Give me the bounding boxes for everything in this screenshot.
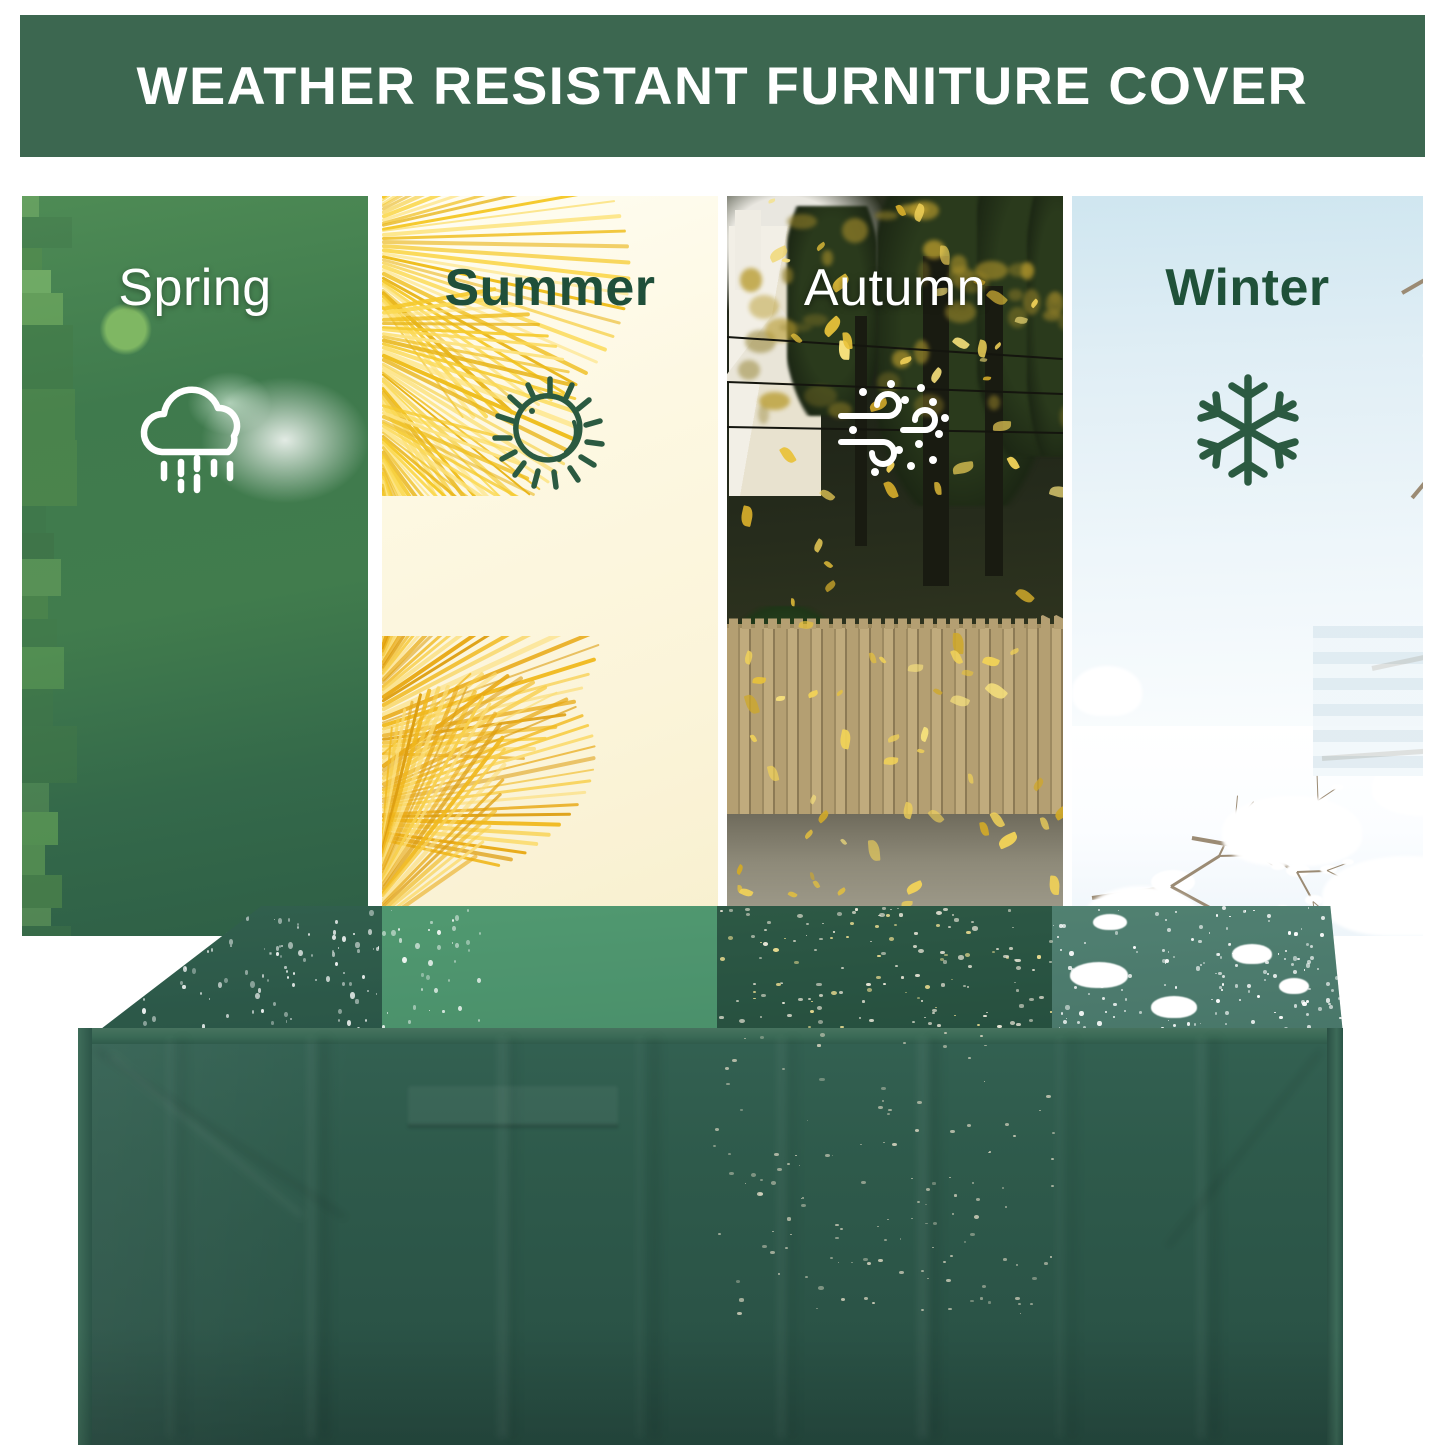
water-droplet [332,935,336,941]
debris-speck [835,1237,838,1239]
snow-speck [1264,979,1266,981]
leaf [883,756,898,765]
leaf [911,203,927,222]
palm-frond-bottom [382,636,718,936]
snow-speck [1168,1020,1169,1021]
snow-speck [1318,1007,1322,1011]
leaf [980,357,988,363]
snow-mound [1222,796,1362,866]
debris-speck [810,1010,815,1013]
snow-speck [1060,949,1062,951]
leaf [932,687,942,697]
water-droplet [298,950,303,956]
debris-speck [729,1172,733,1175]
debris-speck [954,1194,957,1196]
snow-speck [1274,1012,1275,1013]
water-droplet [149,969,153,974]
water-droplet [255,993,259,999]
debris-speck [740,1109,742,1110]
debris-speck [751,1173,756,1177]
leaf [812,880,820,889]
water-droplet [338,1009,342,1014]
water-droplet [94,975,96,978]
water-droplet [250,981,255,987]
leaf [1039,816,1049,830]
water-droplet [226,1014,229,1018]
snow-speck [1339,969,1341,971]
snow-speck [1097,1021,1101,1025]
water-droplet [468,949,470,952]
snow-speck [1211,999,1213,1001]
water-droplet [455,943,459,948]
debris-speck [728,1153,731,1155]
debris-speck [782,1002,785,1004]
debris-speck [876,976,880,979]
debris-speck [1003,1258,1007,1261]
water-droplet [267,979,269,982]
leaf [1010,647,1020,655]
water-droplet [479,932,481,935]
snow-speck [1307,960,1311,964]
snow-speck [1229,943,1231,945]
debris-speck [950,1255,953,1257]
debris-speck [882,907,886,909]
debris-speck [736,1000,739,1002]
snow-clump [1331,784,1343,791]
snow-speck [1267,914,1271,918]
debris-speck [1039,1110,1041,1111]
water-droplet [343,972,344,974]
snowy-steps [1313,626,1423,776]
water-droplet [350,992,355,998]
debris-speck [886,914,890,917]
debris-speck [972,926,978,930]
foliage-blob [22,533,54,559]
snow-speck [1257,995,1260,998]
foliage-blob [22,812,58,846]
snow-speck [1333,933,1335,935]
debris-speck [863,1258,868,1261]
debris-speck [760,1036,764,1039]
debris-speck [798,998,803,1001]
water-droplet [426,975,430,980]
water-droplet [82,984,85,988]
season-panel-winter: Winter [1072,196,1423,936]
snow-speck [1317,968,1319,970]
snow-speck [1291,963,1294,966]
debris-speck [720,910,723,912]
water-droplet [143,1021,147,1027]
water-droplet [365,1019,367,1022]
water-droplet [271,1021,274,1025]
leaf [840,838,848,846]
snow-speck [1133,946,1136,949]
debris-speck [924,1017,926,1018]
debris-speck [918,949,924,953]
snow-speck [1239,999,1241,1001]
water-droplet [303,958,306,962]
water-droplet [192,968,197,974]
leaf [742,650,753,665]
water-droplet [437,945,441,950]
debris-speck [818,1020,823,1023]
debris-speck [725,1067,729,1070]
leaf [835,690,843,697]
water-droplet [342,936,347,942]
water-droplet [284,966,287,970]
debris-speck [802,1197,804,1199]
debris-speck [1016,1264,1018,1266]
water-droplet [279,945,281,948]
snow-speck [1077,1021,1081,1025]
debris-speck [889,937,895,941]
debris-speck [762,1245,767,1248]
water-droplet [200,992,202,995]
debris-speck [820,1033,825,1036]
debris-speck [1016,1023,1020,1026]
water-droplet [110,930,112,932]
leaf [1049,484,1063,501]
debris-speck [917,1201,920,1203]
leaf [993,421,1011,431]
product-marketing-image: WEATHER RESISTANT FURNITURE COVER Spring [0,0,1445,1445]
leaf [1053,803,1063,821]
snow-speck [1203,962,1205,964]
water-droplet [477,978,481,983]
snow-speck [1222,975,1225,978]
debris-speck [878,1259,883,1262]
bottom-shade [78,1325,1343,1445]
debris-speck [992,951,995,953]
debris-speck [967,1124,971,1127]
leaf [824,580,838,592]
debris-speck [905,992,907,993]
sun-icon [490,374,610,497]
water-droplet [81,983,84,987]
debris-speck [1012,927,1014,929]
debris-speck [972,1182,974,1183]
debris-speck [831,991,837,995]
water-droplet [262,974,265,978]
water-droplet [99,1023,100,1025]
water-droplet [466,940,470,945]
snow-speck [1175,911,1176,912]
water-droplet [90,974,92,977]
leaf [961,669,973,678]
cover-seam-line [408,1124,618,1128]
snow-speck [1155,912,1159,916]
snow-speck [1340,979,1343,982]
water-droplet [455,915,459,921]
water-droplet [130,973,132,976]
snow-speck [1173,956,1175,958]
water-droplet [278,918,282,924]
debris-speck [971,921,974,923]
water-droplet [112,944,116,949]
snow-speck [1220,956,1223,959]
debris-speck [988,1152,990,1153]
debris-speck [760,942,762,944]
snow-speck [1125,998,1127,1000]
water-droplet [369,910,373,916]
water-droplet [276,946,280,951]
water-droplet [79,1009,81,1012]
water-droplet [290,1018,292,1020]
debris-speck [964,1241,966,1243]
debris-speck [949,1177,951,1178]
debris-speck [790,1234,792,1235]
debris-speck [943,908,947,911]
water-droplet [430,921,432,924]
debris-speck [806,923,809,925]
debris-speck [726,1083,730,1086]
season-panel-autumn: Autumn [727,196,1063,936]
debris-speck [921,1270,924,1272]
snow-speck [1293,970,1297,974]
snow-speck [1191,938,1194,941]
debris-speck [793,940,796,942]
snow-speck [1162,949,1165,952]
water-droplet [326,976,331,982]
water-droplet [292,983,295,987]
water-droplet [382,931,386,936]
debris-speck [974,1215,979,1219]
debris-speck [899,913,904,916]
water-droplet [399,938,402,942]
leaf [879,656,887,665]
debris-speck [764,929,767,931]
water-droplet [110,985,113,988]
leaf [821,316,844,338]
snow-speck [1340,956,1343,959]
debris-speck [1032,1277,1037,1280]
water-droplet [448,979,450,982]
debris-speck [980,1297,984,1300]
debris-speck [1013,1135,1016,1137]
debris-speck [950,1130,954,1133]
debris-speck [933,1222,938,1225]
leaf [837,887,847,896]
snow-speck [1273,974,1277,978]
debris-speck [883,1142,884,1143]
water-droplet [315,979,317,981]
debris-speck [980,1035,983,1037]
leaf [791,598,796,606]
water-droplet [376,993,377,995]
debris-speck [818,1286,823,1290]
debris-speck [773,948,779,952]
debris-speck [943,1261,946,1263]
foliage-blob [22,196,39,217]
foliage-blob [22,619,57,647]
diagonal-crease [1165,1049,1323,1249]
snow-speck [1326,982,1330,986]
debris-speck [1014,959,1017,961]
water-droplet [452,926,455,931]
snow-speck [1243,910,1246,913]
debris-speck [936,924,940,927]
debris-speck [921,1000,923,1002]
snow-speck [1308,907,1309,908]
snow-speck [1115,931,1119,935]
debris-speck [946,1279,951,1282]
water-droplet [112,1005,114,1008]
leaf [1006,455,1020,471]
water-droplet [273,1002,276,1006]
snow-speck [1113,1016,1115,1018]
snow-speck [1222,983,1224,985]
snow-speck [1294,933,1297,936]
water-droplet [415,943,419,949]
water-droplet [437,930,441,935]
water-droplet [180,981,183,985]
debris-speck [799,1165,800,1166]
water-droplet [467,909,469,912]
cover-seam-panel [408,1086,618,1126]
debris-speck [867,1262,871,1265]
water-droplet [209,998,211,1000]
water-droplet [171,911,176,917]
water-droplet [367,990,369,993]
snow-speck [1175,986,1178,989]
leaf [1049,875,1061,894]
debris-speck [1010,1021,1016,1025]
water-droplet [434,988,438,993]
snow-speck [1335,976,1339,980]
water-droplet [124,981,128,986]
water-droplet [368,929,372,934]
water-droplet [452,942,454,944]
debris-speck [816,983,822,987]
debris-speck [745,908,750,912]
debris-speck [1050,1256,1053,1258]
debris-speck [801,1204,805,1207]
snow-speck [1128,974,1132,978]
snow-patch [1093,914,1127,930]
snow-patch [1232,944,1272,964]
water-droplet [286,1020,288,1022]
foliage-blob [22,783,49,811]
debris-speck [1009,947,1013,950]
debris-speck [851,1262,853,1264]
snow-speck [1301,928,1302,929]
debris-speck [739,1019,745,1023]
snow-speck [1247,984,1251,988]
foliage-blob [22,440,77,506]
snow-speck [1331,989,1334,992]
water-droplet [183,966,187,972]
debris-speck [761,994,766,998]
debris-speck [862,1000,866,1003]
debris-speck [1002,1187,1004,1188]
water-droplet [276,952,279,956]
water-droplet [458,1006,462,1011]
snow-speck [1218,972,1221,975]
snow-speck [1053,925,1055,927]
debris-speck [878,1106,883,1109]
debris-speck [830,1257,833,1259]
water-droplet [478,1019,480,1022]
debris-speck [928,1022,932,1025]
debris-speck [838,1262,840,1263]
debris-speck [814,949,817,951]
debris-speck [958,955,964,959]
snow-speck [1199,925,1203,929]
debris-speck [729,909,732,911]
water-droplet [288,918,291,922]
foliage-blob [22,559,61,595]
snow-speck [1284,958,1286,960]
water-droplet [182,936,186,941]
debris-speck [841,967,844,969]
debris-speck [877,955,881,958]
snow-speck [1310,945,1313,948]
snow-speck [1306,943,1309,946]
debris-speck [840,1228,843,1230]
snow-speck [1341,931,1344,934]
water-droplet [118,925,123,931]
snow-speck [1297,958,1299,960]
debris-speck [732,1059,737,1062]
water-droplet [408,1020,411,1024]
debris-speck [850,922,855,925]
water-droplet [132,997,135,1000]
debris-speck [932,1009,937,1012]
foliage-blob [22,845,45,874]
water-droplet [184,930,186,932]
debris-speck [1020,1313,1021,1314]
water-droplet [152,1016,156,1022]
leaf [983,375,992,380]
season-label-autumn: Autumn [727,258,1063,318]
debris-speck [895,965,898,967]
debris-speck [884,1239,887,1241]
leaf [779,445,797,465]
debris-speck [864,1297,868,1300]
leaf [905,880,924,895]
leaf [867,840,880,862]
snow-speck [1306,1013,1309,1016]
leaf [816,810,831,824]
snow-speck [1084,942,1086,944]
water-droplet [338,1019,340,1022]
season-label-winter: Winter [1072,258,1423,318]
foliage-blob [22,726,77,783]
debris-speck [1019,1004,1024,1007]
water-droplet [286,970,288,973]
debris-speck [778,1273,781,1275]
snow-speck [1279,1016,1283,1020]
debris-speck [887,1113,890,1115]
water-droplet [222,921,223,923]
snow-speck [1198,940,1201,943]
debris-speck [869,1019,874,1022]
debris-speck [782,1068,785,1070]
snow-speck [1235,964,1238,967]
water-droplet [349,982,352,986]
leaf [949,692,970,709]
water-droplet [252,1010,255,1014]
debris-speck [757,1192,762,1196]
water-droplet [293,972,295,975]
snow-speck [1102,997,1105,1000]
season-label-summer: Summer [382,258,718,318]
water-droplet [185,943,188,947]
foliage-blob [22,389,75,440]
debris-speck [1003,955,1008,959]
snow-speck [1216,999,1220,1003]
debris-speck [753,998,756,1000]
